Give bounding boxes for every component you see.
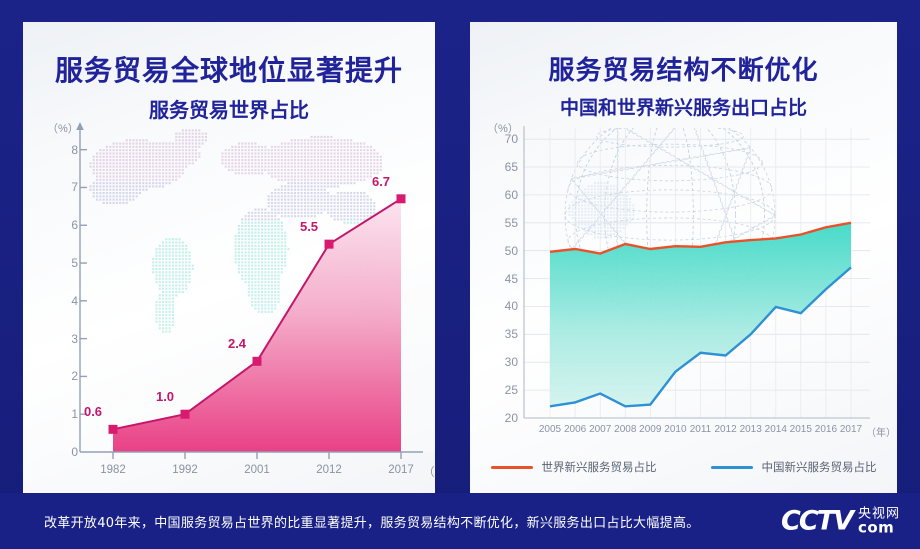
right-xtick-2007: 2007 xyxy=(589,424,611,435)
left-xtick-1982: 1982 xyxy=(100,464,126,476)
left-xtick-2001: 2001 xyxy=(244,464,270,476)
chart-legend: 世界新兴服务贸易占比 中国新兴服务贸易占比 xyxy=(470,459,897,475)
left-chart: （%） xyxy=(23,122,435,493)
cctv-cn-wordmark: 央视网 com xyxy=(858,507,900,535)
legend-swatch-world xyxy=(491,466,533,469)
right-xtick-2008: 2008 xyxy=(614,424,636,435)
right-ytick-70: 70 xyxy=(476,132,518,146)
left-xtick-2017: 2017 xyxy=(388,464,414,476)
right-ytick-30: 30 xyxy=(476,355,518,369)
right-xtick-2005: 2005 xyxy=(539,424,561,435)
legend-swatch-china xyxy=(711,466,753,469)
right-ytick-50: 50 xyxy=(476,244,518,258)
legend-item-china: 中国新兴服务贸易占比 xyxy=(711,459,877,475)
footer-caption: 改革开放40年来，中国服务贸易占世界的比重显著提升，服务贸易结构不断优化，新兴服… xyxy=(44,512,700,531)
cctv-wordmark: CCTV xyxy=(781,506,852,537)
left-ytick-4: 4 xyxy=(30,294,78,308)
right-xtick-2012: 2012 xyxy=(714,424,736,435)
left-datalabel-1982: 0.6 xyxy=(84,404,102,419)
right-ytick-40: 40 xyxy=(476,299,518,313)
right-chart-svg xyxy=(470,120,897,450)
right-xtick-2013: 2013 xyxy=(740,424,762,435)
right-ytick-20: 20 xyxy=(476,411,518,425)
left-datalabel-2001: 2.4 xyxy=(228,336,246,351)
panel-left: 服务贸易全球地位显著提升 服务贸易世界占比 （%） xyxy=(23,22,435,493)
left-x-axis-unit: （年） xyxy=(423,464,435,480)
right-xtick-2014: 2014 xyxy=(765,424,787,435)
right-ytick-35: 35 xyxy=(476,327,518,341)
left-panel-subtitle: 服务贸易世界占比 xyxy=(23,94,435,123)
left-ytick-2: 2 xyxy=(30,369,78,383)
right-xtick-2011: 2011 xyxy=(690,424,712,435)
left-ytick-8: 8 xyxy=(30,143,78,157)
legend-label-china: 中国新兴服务贸易占比 xyxy=(762,459,877,475)
left-ytick-1: 1 xyxy=(30,407,78,421)
left-panel-title: 服务贸易全球地位显著提升 xyxy=(23,49,435,89)
left-ytick-5: 5 xyxy=(30,256,78,270)
left-xtick-1992: 1992 xyxy=(172,464,198,476)
left-ytick-6: 6 xyxy=(30,218,78,232)
left-xtick-2012: 2012 xyxy=(316,464,342,476)
footer-bar: 改革开放40年来，中国服务贸易占世界的比重显著提升，服务贸易结构不断优化，新兴服… xyxy=(0,493,920,549)
infographic-stage: 服务贸易全球地位显著提升 服务贸易世界占比 （%） xyxy=(0,0,920,549)
right-xtick-2017: 2017 xyxy=(840,424,862,435)
right-xtick-2016: 2016 xyxy=(815,424,837,435)
right-chart: （%） xyxy=(470,120,897,450)
right-x-axis-unit: （年） xyxy=(866,424,896,439)
right-ytick-25: 25 xyxy=(476,383,518,397)
right-xtick-2015: 2015 xyxy=(790,424,812,435)
left-datalabel-2012: 5.5 xyxy=(300,219,318,234)
right-xtick-2010: 2010 xyxy=(664,424,686,435)
right-panel-subtitle: 中国和世界新兴服务出口占比 xyxy=(470,93,897,120)
right-ytick-55: 55 xyxy=(476,216,518,230)
right-ytick-65: 65 xyxy=(476,160,518,174)
legend-label-world: 世界新兴服务贸易占比 xyxy=(542,459,657,475)
cctv-logo: CCTV 央视网 com xyxy=(781,506,900,537)
panel-right: 服务贸易结构不断优化 中国和世界新兴服务出口占比 （%） xyxy=(470,22,897,493)
left-ytick-7: 7 xyxy=(30,180,78,194)
left-ytick-0: 0 xyxy=(30,445,78,459)
left-datalabel-2017: 6.7 xyxy=(372,174,390,189)
right-ytick-60: 60 xyxy=(476,188,518,202)
legend-item-world: 世界新兴服务贸易占比 xyxy=(491,459,657,475)
right-xtick-2009: 2009 xyxy=(639,424,661,435)
right-panel-title: 服务贸易结构不断优化 xyxy=(470,50,897,87)
right-xtick-2006: 2006 xyxy=(564,424,586,435)
left-datalabel-1992: 1.0 xyxy=(156,389,174,404)
right-ytick-45: 45 xyxy=(476,272,518,286)
left-y-axis-unit: （%） xyxy=(47,120,79,136)
left-ytick-3: 3 xyxy=(30,332,78,346)
cctv-cn-bottom: com xyxy=(858,520,900,535)
